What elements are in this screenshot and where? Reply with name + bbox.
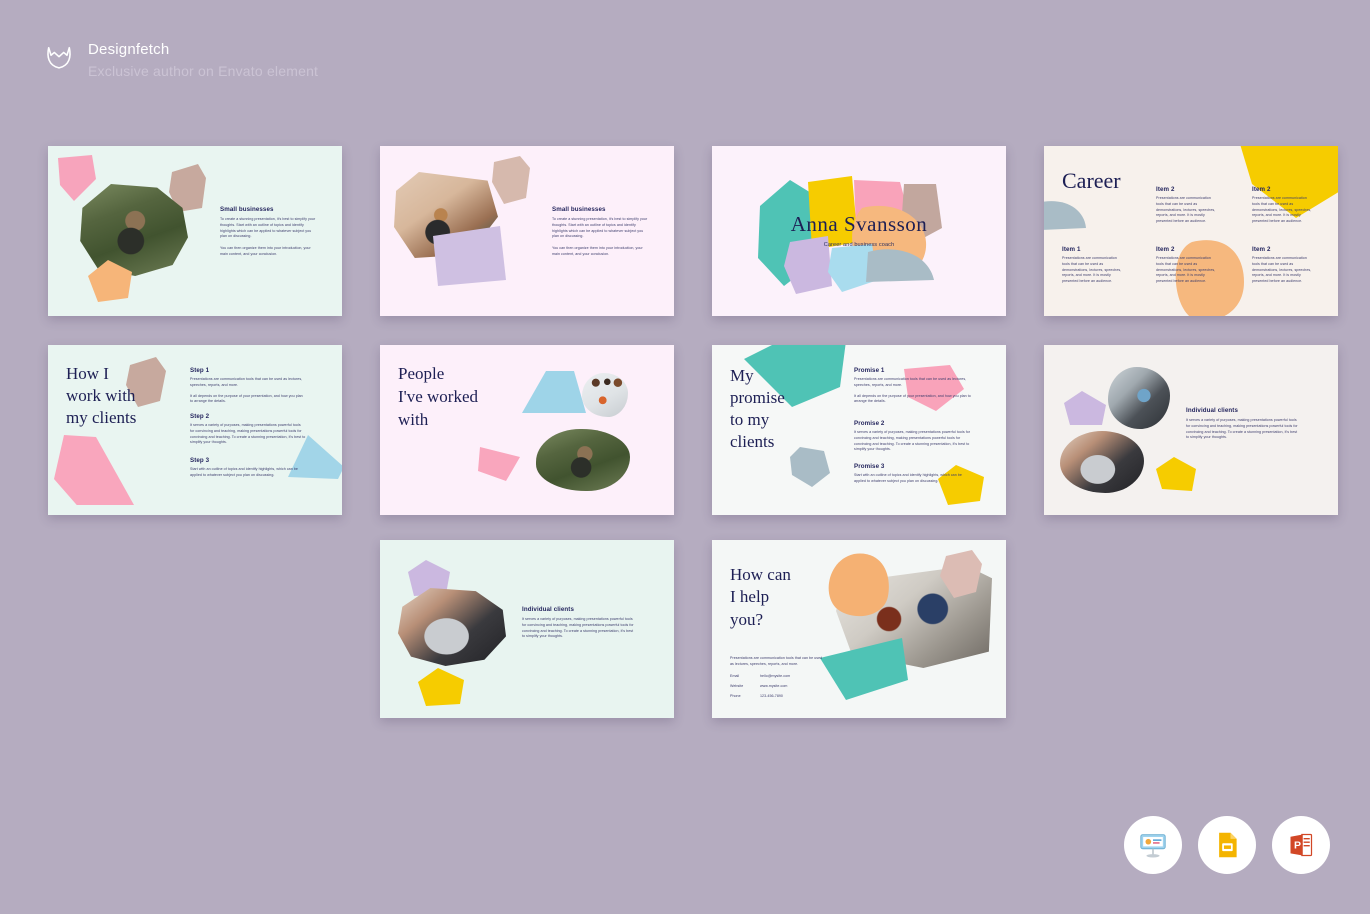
slide-paragraph-1: It serves a variety of purposes, making … xyxy=(522,617,634,640)
slide-paragraph-2: You can then organize them into your int… xyxy=(552,246,650,258)
slide-career[interactable]: Career Item 2 Presentations are communic… xyxy=(1044,146,1338,316)
title-line: you? xyxy=(730,609,791,631)
slide-heading: Small businesses xyxy=(220,206,318,213)
contact-value[interactable]: 123-456-7890 xyxy=(760,694,783,700)
powerpoint-badge[interactable]: P xyxy=(1272,816,1330,874)
slide-deck: Small businesses To create a stunning pr… xyxy=(0,0,1370,914)
title-line: I help xyxy=(730,586,791,608)
slide-title: My promise to my clients xyxy=(730,365,785,453)
career-item: Item 1 Presentations are communication t… xyxy=(1062,246,1124,285)
slide-how-can-i-help[interactable]: How can I help you? Presentations are co… xyxy=(712,540,1006,718)
slide-paragraph-1: To create a stunning presentation, it's … xyxy=(552,217,650,240)
orange-shape xyxy=(826,552,892,620)
slide-people-worked-with[interactable]: People I've worked with xyxy=(380,345,674,515)
slide-title[interactable]: Anna Svansson Career and business coach xyxy=(712,146,1006,316)
keynote-icon xyxy=(1138,830,1168,860)
slide-individual-clients-cream[interactable]: Individual clients It serves a variety o… xyxy=(1044,345,1338,515)
powerpoint-icon: P xyxy=(1287,831,1315,859)
blue-shape xyxy=(520,369,590,417)
photo-woman-outdoors xyxy=(536,429,630,491)
keynote-badge[interactable] xyxy=(1124,816,1182,874)
slide-title: How can I help you? xyxy=(730,564,791,631)
slate-shape xyxy=(788,445,832,489)
slide-paragraph-1: It serves a variety of purposes, making … xyxy=(1186,418,1298,441)
career-item-text: Presentations are communication tools th… xyxy=(1156,196,1218,225)
step-block: Step 3 Start with an outline of topics a… xyxy=(190,457,306,479)
contact-row: Phone 123-456-7890 xyxy=(730,694,840,700)
title-line: promise xyxy=(730,387,785,409)
google-slides-icon xyxy=(1213,831,1241,859)
promise-label: Promise 2 xyxy=(854,420,972,427)
step-block: Step 1 Presentations are communication t… xyxy=(190,367,306,405)
lilac-shape xyxy=(1062,389,1110,429)
career-item: Item 2 Presentations are communication t… xyxy=(1156,246,1218,285)
promise-text: It all depends on the purpose of your pr… xyxy=(854,394,972,406)
slide-heading: Individual clients xyxy=(522,606,634,613)
step-label: Step 1 xyxy=(190,367,306,374)
step-label: Step 2 xyxy=(190,413,306,420)
slide-title: People I've worked with xyxy=(398,363,478,431)
career-item-text: Presentations are communication tools th… xyxy=(1252,256,1314,285)
slide-paragraph-2: You can then organize them into your int… xyxy=(220,246,318,258)
title-line: I've worked xyxy=(398,386,478,409)
title-line: to my xyxy=(730,409,785,431)
title-line: clients xyxy=(730,431,785,453)
slate-shape xyxy=(1044,200,1090,232)
step-text: Presentations are communication tools th… xyxy=(190,377,306,389)
promise-block: Promise 1 Presentations are communicatio… xyxy=(854,367,972,405)
contact-value[interactable]: www.mysite.com xyxy=(760,684,787,690)
promise-text: Presentations are communication tools th… xyxy=(854,377,972,389)
pink-shape xyxy=(52,431,136,505)
contact-label: Phone xyxy=(730,694,760,700)
title-line: with xyxy=(398,409,478,432)
slide-paragraph: Presentations are communication tools th… xyxy=(730,656,826,668)
career-item-label: Item 2 xyxy=(1156,246,1218,253)
career-item: Item 2 Presentations are communication t… xyxy=(1252,246,1314,285)
slide-heading: Individual clients xyxy=(1186,407,1298,414)
step-block: Step 2 It serves a variety of purposes, … xyxy=(190,413,306,446)
career-item-label: Item 2 xyxy=(1252,246,1314,253)
pink-shape xyxy=(476,445,528,483)
contact-value[interactable]: hello@mysite.com xyxy=(760,674,790,680)
step-text: It serves a variety of purposes, making … xyxy=(190,423,306,446)
photo-person-laptop-desk xyxy=(1060,431,1144,493)
career-item-label: Item 1 xyxy=(1062,246,1124,253)
career-item-label: Item 2 xyxy=(1252,186,1314,193)
slide-my-promise[interactable]: My promise to my clients Promise 1 Prese… xyxy=(712,345,1006,515)
promise-text: It serves a variety of purposes, making … xyxy=(854,430,972,453)
step-text: It all depends on the purpose of your pr… xyxy=(190,394,306,406)
photo-meeting xyxy=(582,373,628,417)
slide-individual-clients-mint[interactable]: Individual clients It serves a variety o… xyxy=(380,540,674,718)
career-item-text: Presentations are communication tools th… xyxy=(1062,256,1124,285)
presentation-subtitle: Career and business coach xyxy=(712,242,1006,248)
career-item-text: Presentations are communication tools th… xyxy=(1156,256,1218,285)
slide-small-businesses-pink[interactable]: Small businesses To create a stunning pr… xyxy=(380,146,674,316)
promise-label: Promise 3 xyxy=(854,463,972,470)
slide-how-i-work[interactable]: How I work with my clients Step 1 Presen… xyxy=(48,345,342,515)
promise-text: Start with an outline of topics and iden… xyxy=(854,473,972,485)
app-format-badges: P xyxy=(1124,816,1330,874)
title-line: work with xyxy=(66,385,136,407)
contact-row: Email hello@mysite.com xyxy=(730,674,840,680)
step-text: Start with an outline of topics and iden… xyxy=(190,467,306,479)
step-label: Step 3 xyxy=(190,457,306,464)
promise-label: Promise 1 xyxy=(854,367,972,374)
slide-title: Career xyxy=(1062,168,1121,194)
slide-small-businesses-mint[interactable]: Small businesses To create a stunning pr… xyxy=(48,146,342,316)
title-line: People xyxy=(398,363,478,386)
title-line: How can xyxy=(730,564,791,586)
career-item-text: Presentations are communication tools th… xyxy=(1252,196,1314,225)
career-item: Item 2 Presentations are communication t… xyxy=(1252,186,1314,225)
yellow-shape xyxy=(1154,455,1200,495)
slide-title: How I work with my clients xyxy=(66,363,136,428)
title-line: How I xyxy=(66,363,136,385)
orange-shape xyxy=(86,258,138,308)
lilac-shape xyxy=(430,224,510,290)
contact-row: Website www.mysite.com xyxy=(730,684,840,690)
photo-person-laptop-desk xyxy=(398,588,506,666)
google-slides-badge[interactable] xyxy=(1198,816,1256,874)
promise-block: Promise 3 Start with an outline of topic… xyxy=(854,463,972,485)
title-line: my clients xyxy=(66,407,136,429)
photo-person-laptop-standing xyxy=(1108,367,1170,429)
tan-shape xyxy=(938,548,986,604)
promise-block: Promise 2 It serves a variety of purpose… xyxy=(854,420,972,453)
svg-text:P: P xyxy=(1294,840,1301,852)
tan-shape xyxy=(490,154,536,212)
title-line: My xyxy=(730,365,785,387)
slide-paragraph-1: To create a stunning presentation, it's … xyxy=(220,217,318,240)
presentation-title: Anna Svansson xyxy=(712,212,1006,237)
slide-heading: Small businesses xyxy=(552,206,650,213)
career-item: Item 2 Presentations are communication t… xyxy=(1156,186,1218,225)
career-item-label: Item 2 xyxy=(1156,186,1218,193)
contact-label: Email xyxy=(730,674,760,680)
yellow-shape xyxy=(416,666,468,710)
contact-label: Website xyxy=(730,684,760,690)
